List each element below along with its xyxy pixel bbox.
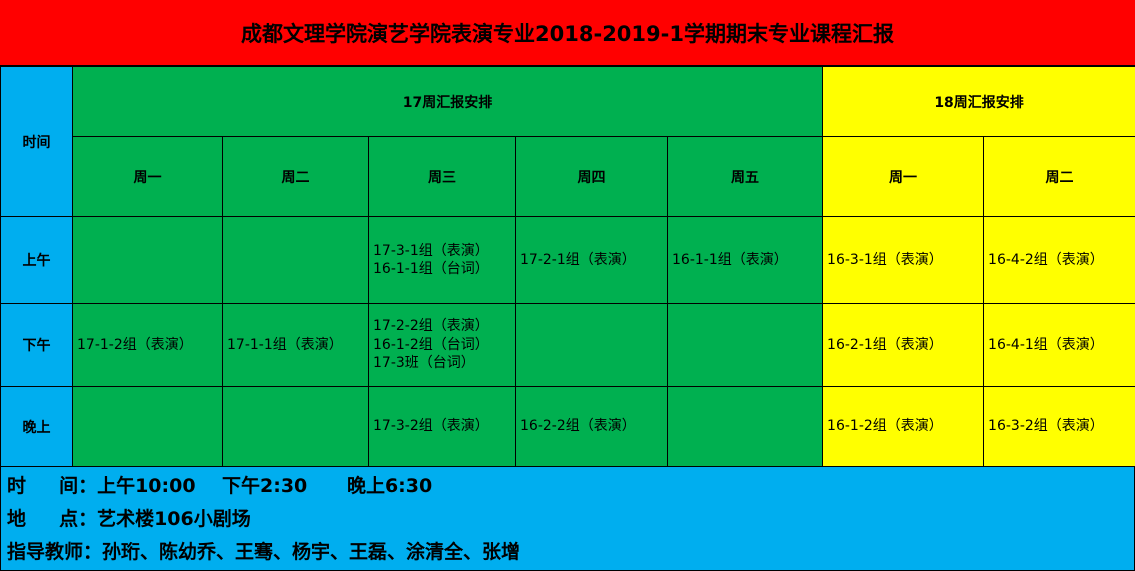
cell-morning-w18-tue: 16-4-2组（表演） [984,217,1135,304]
cell-evening-w17-tue [223,387,369,467]
day-header-w17-mon: 周一 [73,137,223,217]
cell-morning-w17-fri: 16-1-1组（表演） [668,217,823,304]
title-banner: 成都文理学院演艺学院表演专业2018-2019-1学期期末专业课程汇报 [0,0,1135,66]
cell-evening-w18-mon: 16-1-2组（表演） [823,387,984,467]
cell-afternoon-w17-fri [668,304,823,387]
day-header-w17-fri: 周五 [668,137,823,217]
cell-morning-w17-wed: 17-3-1组（表演）16-1-1组（台词） [369,217,516,304]
schedule-sheet: 成都文理学院演艺学院表演专业2018-2019-1学期期末专业课程汇报 时间 1… [0,0,1135,569]
cell-afternoon-w17-mon: 17-1-2组（表演） [73,304,223,387]
cell-afternoon-w17-wed: 17-2-2组（表演）16-1-2组（台词）17-3班（台词） [369,304,516,387]
table-day-header-row: 周一 周二 周三 周四 周五 周一 周二 [1,137,1135,217]
row-label-afternoon: 下午 [1,304,73,387]
schedule-table: 时间 17周汇报安排 18周汇报安排 周一 周二 周三 周四 周五 周一 周二 … [0,66,1135,467]
cell-morning-w17-tue [223,217,369,304]
day-header-w17-thu: 周四 [516,137,668,217]
cell-afternoon-w17-thu [516,304,668,387]
cell-afternoon-w17-tue: 17-1-1组（表演） [223,304,369,387]
cell-evening-w17-wed: 17-3-2组（表演） [369,387,516,467]
table-group-header-row: 时间 17周汇报安排 18周汇报安排 [1,67,1135,137]
time-column-header: 时间 [1,67,73,217]
table-row: 上午 17-3-1组（表演）16-1-1组（台词） 17-2-1组（表演） 16… [1,217,1135,304]
cell-evening-w17-mon [73,387,223,467]
row-label-evening: 晚上 [1,387,73,467]
footer-notes: 时 间：上午10:00 下午2:30 晚上6:30 地 点：艺术楼106小剧场 … [0,467,1135,571]
cell-afternoon-w18-mon: 16-2-1组（表演） [823,304,984,387]
cell-afternoon-w18-tue: 16-4-1组（表演） [984,304,1135,387]
day-header-w18-mon: 周一 [823,137,984,217]
cell-evening-w17-fri [668,387,823,467]
page-title: 成都文理学院演艺学院表演专业2018-2019-1学期期末专业课程汇报 [241,18,894,48]
row-label-morning: 上午 [1,217,73,304]
cell-morning-w18-mon: 16-3-1组（表演） [823,217,984,304]
day-header-w18-tue: 周二 [984,137,1135,217]
day-header-w17-wed: 周三 [369,137,516,217]
cell-morning-w17-mon [73,217,223,304]
cell-evening-w17-thu: 16-2-2组（表演） [516,387,668,467]
footer-line-time: 时 间：上午10:00 下午2:30 晚上6:30 [7,470,1128,503]
table-row: 下午 17-1-2组（表演） 17-1-1组（表演） 17-2-2组（表演）16… [1,304,1135,387]
footer-line-teachers: 指导教师：孙珩、陈幼乔、王骞、杨宇、王磊、涂清全、张增 [7,536,1128,569]
cell-morning-w17-thu: 17-2-1组（表演） [516,217,668,304]
footer-line-location: 地 点：艺术楼106小剧场 [7,503,1128,536]
day-header-w17-tue: 周二 [223,137,369,217]
group-header-week17: 17周汇报安排 [73,67,823,137]
cell-evening-w18-tue: 16-3-2组（表演） [984,387,1135,467]
table-row: 晚上 17-3-2组（表演） 16-2-2组（表演） 16-1-2组（表演） 1… [1,387,1135,467]
group-header-week18: 18周汇报安排 [823,67,1135,137]
